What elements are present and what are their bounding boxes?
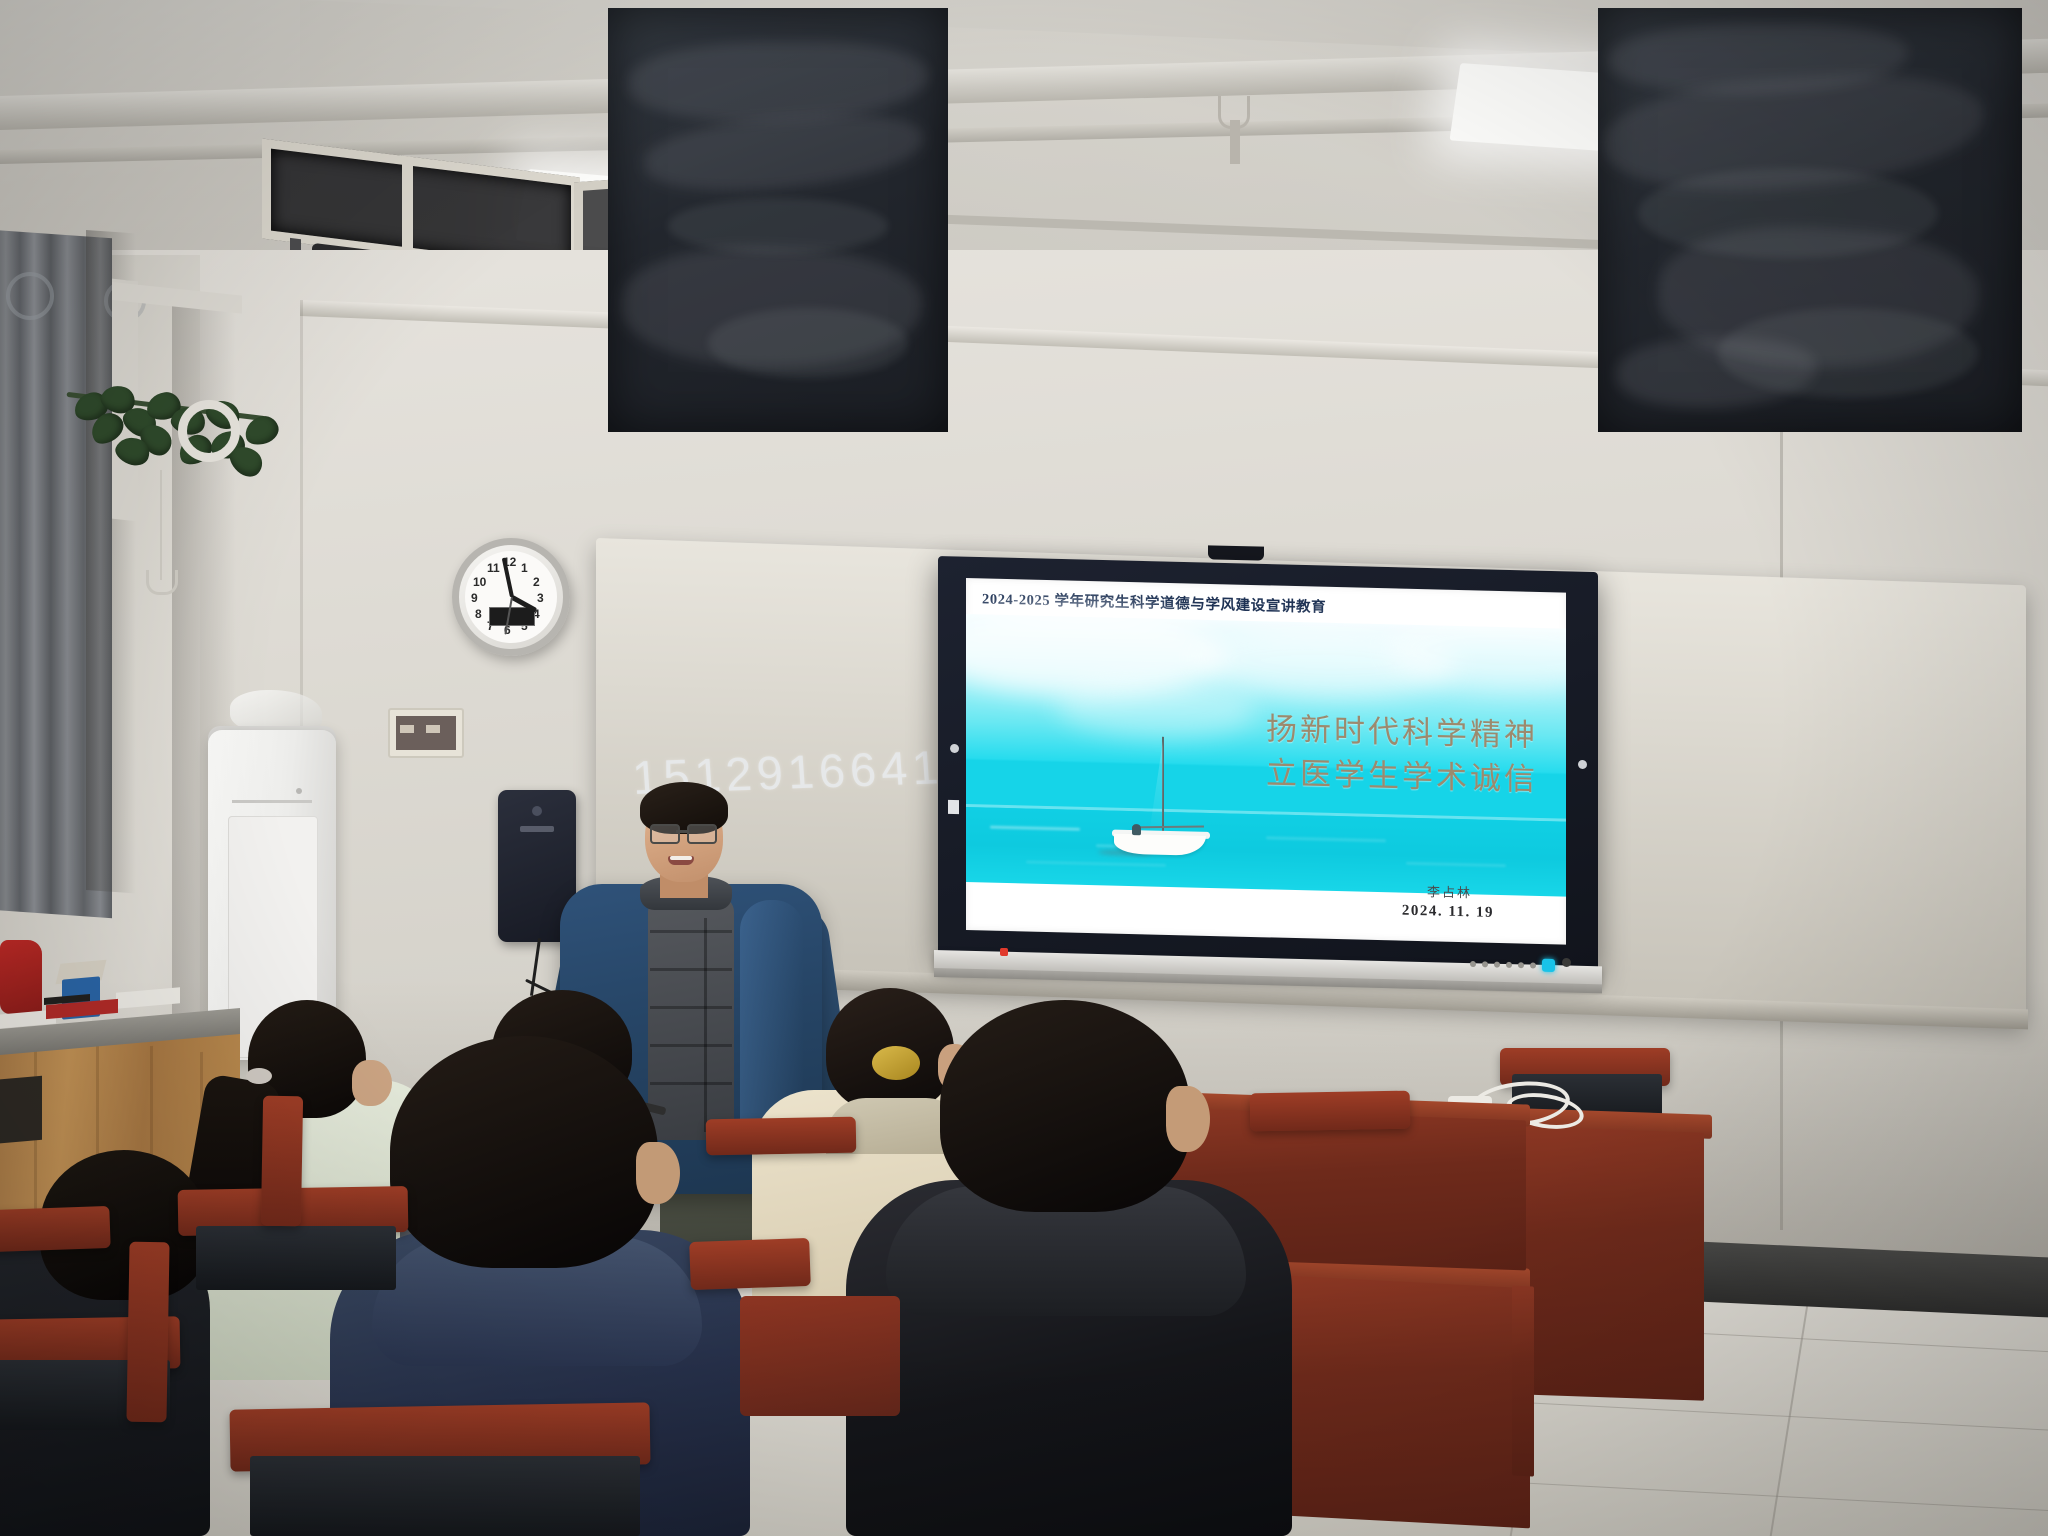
chair-back-9[interactable] [706,1117,857,1156]
clock-numeral: 9 [471,591,478,605]
clock-numeral: 10 [473,575,486,589]
status-dot-icon [1482,961,1488,967]
chair-back-1[interactable] [0,1206,111,1252]
desk-center-leg [1512,1285,1534,1476]
student-5-hair [940,1000,1190,1212]
ir-receiver-icon [1562,958,1571,967]
status-dot-icon [1470,960,1476,966]
ivy-decoration [65,385,285,516]
slide-presenter-name: 李占林 [1427,881,1472,901]
smartboard-sensor-right-icon [1578,760,1587,769]
ivy-hook-icon [146,570,178,595]
lecturer-mouth [668,856,694,865]
slide-title-line2: 立医学生学术诚信 [1266,751,1538,802]
classroom-photo: 12 1 2 3 4 5 6 7 8 9 10 11 [0,0,2048,1536]
cage-divider [402,156,413,257]
wall-electrical-box [388,708,464,758]
counter-opening [0,1076,42,1145]
ac-indicator-icon [296,788,302,794]
ceiling-hook-stem [1230,120,1240,164]
chair-back-7[interactable] [261,1096,303,1227]
chair-pad-4 [250,1456,640,1536]
sailboat-sail [1149,740,1163,834]
smartboard-camera-icon [1208,545,1264,560]
student-3-hair [390,1036,658,1268]
clock-numeral: 3 [537,591,544,605]
blackboard-panel-left [608,8,948,432]
curtain-logo-icon [6,272,54,320]
ivy-ring-ornament [178,400,240,462]
ivy-hanging-string [160,470,162,580]
red-cloth [0,940,42,1014]
student-1-face [352,1060,392,1106]
status-dot-icon [1530,962,1536,968]
student-3-ear [636,1142,680,1204]
smartboard-status-indicators[interactable] [1470,957,1555,972]
lecturer-jacket-zip [704,918,707,1132]
chair-pad-2 [196,1226,396,1290]
smartboard-sensor-left-icon [950,744,959,753]
chair-back-8[interactable] [1250,1091,1411,1132]
student-1-hair-tie [246,1068,272,1084]
chair-back-5[interactable] [689,1238,811,1290]
student-5-ear [1166,1086,1210,1152]
slide-water [966,807,1566,897]
smartboard-side-button[interactable] [948,800,959,814]
clock-numeral: 8 [475,607,482,621]
wall-clock: 12 1 2 3 4 5 6 7 8 9 10 11 [452,538,570,656]
lecturer-glasses-right-lens-icon [687,824,717,844]
chair-back-6[interactable] [126,1242,169,1423]
status-dot-icon [1494,961,1500,967]
slide-title-line1: 扬新时代科学精神 [1266,707,1538,758]
status-dot-icon [1506,961,1512,967]
ac-vent [232,800,312,803]
smartboard-record-led-icon [1000,948,1008,956]
lecturer-glasses-bridge [676,830,687,833]
tablet-brand-logo [520,826,554,832]
lecturer-glasses-left-lens-icon [650,824,680,844]
sailboat-figure [1132,824,1141,835]
slide-date: 2024. 11. 19 [1402,903,1494,922]
tablet-camera-icon [532,806,542,816]
status-dot-icon [1518,962,1524,968]
clock-date-window [489,607,535,626]
power-button-icon[interactable] [1542,959,1555,972]
presentation-slide: 2024-2025 学年研究生科学道德与学风建设宣讲教育 扬新时代科学精 [966,578,1566,945]
clock-numeral: 2 [533,575,540,589]
blackboard-panel-right [1598,8,2022,432]
chair-arm-front[interactable] [740,1296,900,1416]
student-4-scrunchie [872,1046,920,1080]
slide-title: 扬新时代科学精神 立医学生学术诚信 [1266,707,1538,802]
